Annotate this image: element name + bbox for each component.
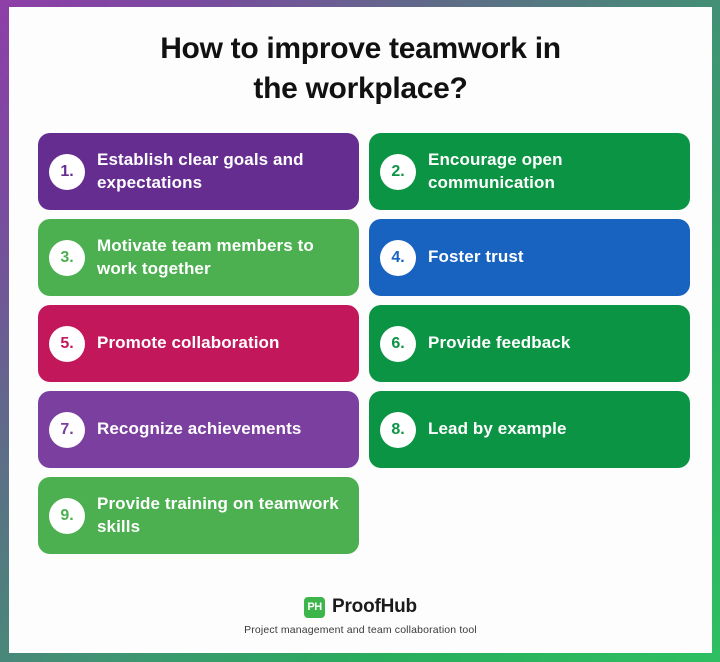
tip-card-9[interactable]: 9. Provide training on teamwork skills (38, 477, 359, 554)
tip-label-2: Encourage open communication (428, 149, 676, 195)
page-title-line-1: How to improve teamwork in (69, 29, 652, 69)
brand-name: ProofHub (332, 596, 417, 618)
tip-number-8: 8. (380, 412, 416, 448)
tip-card-4[interactable]: 4. Foster trust (369, 219, 690, 296)
tip-number-9: 9. (49, 498, 85, 534)
infographic-canvas: How to improve teamwork in the workplace… (9, 7, 712, 653)
tip-card-3[interactable]: 3. Motivate team members to work togethe… (38, 219, 359, 296)
tip-number-2: 2. (380, 154, 416, 190)
proofhub-logo-icon: PH (304, 597, 325, 618)
tip-card-7[interactable]: 7. Recognize achievements (38, 391, 359, 468)
tip-number-1: 1. (49, 154, 85, 190)
tip-label-1: Establish clear goals and expectations (97, 149, 345, 195)
tip-number-4: 4. (380, 240, 416, 276)
tip-label-3: Motivate team members to work together (97, 235, 345, 281)
tip-label-6: Provide feedback (428, 332, 570, 355)
page-title-line-2: the workplace? (69, 69, 652, 109)
tip-label-5: Promote collaboration (97, 332, 280, 355)
tip-card-8[interactable]: 8. Lead by example (369, 391, 690, 468)
tip-label-4: Foster trust (428, 246, 524, 269)
tip-number-5: 5. (49, 326, 85, 362)
brand-tagline: Project management and team collaboratio… (9, 624, 712, 636)
tip-label-9: Provide training on teamwork skills (97, 493, 345, 539)
footer: PH ProofHub Project management and team … (9, 596, 712, 636)
tip-card-5[interactable]: 5. Promote collaboration (38, 305, 359, 382)
tip-card-1[interactable]: 1. Establish clear goals and expectation… (38, 133, 359, 210)
tip-label-7: Recognize achievements (97, 418, 301, 441)
tip-card-6[interactable]: 6. Provide feedback (369, 305, 690, 382)
page-title: How to improve teamwork in the workplace… (9, 7, 712, 109)
tip-number-3: 3. (49, 240, 85, 276)
tip-card-2[interactable]: 2. Encourage open communication (369, 133, 690, 210)
infographic-gradient-frame: How to improve teamwork in the workplace… (0, 0, 720, 662)
tip-number-7: 7. (49, 412, 85, 448)
tip-label-8: Lead by example (428, 418, 567, 441)
tip-number-6: 6. (380, 326, 416, 362)
brand-row: PH ProofHub (9, 596, 712, 618)
tips-card-grid: 1. Establish clear goals and expectation… (38, 133, 690, 554)
